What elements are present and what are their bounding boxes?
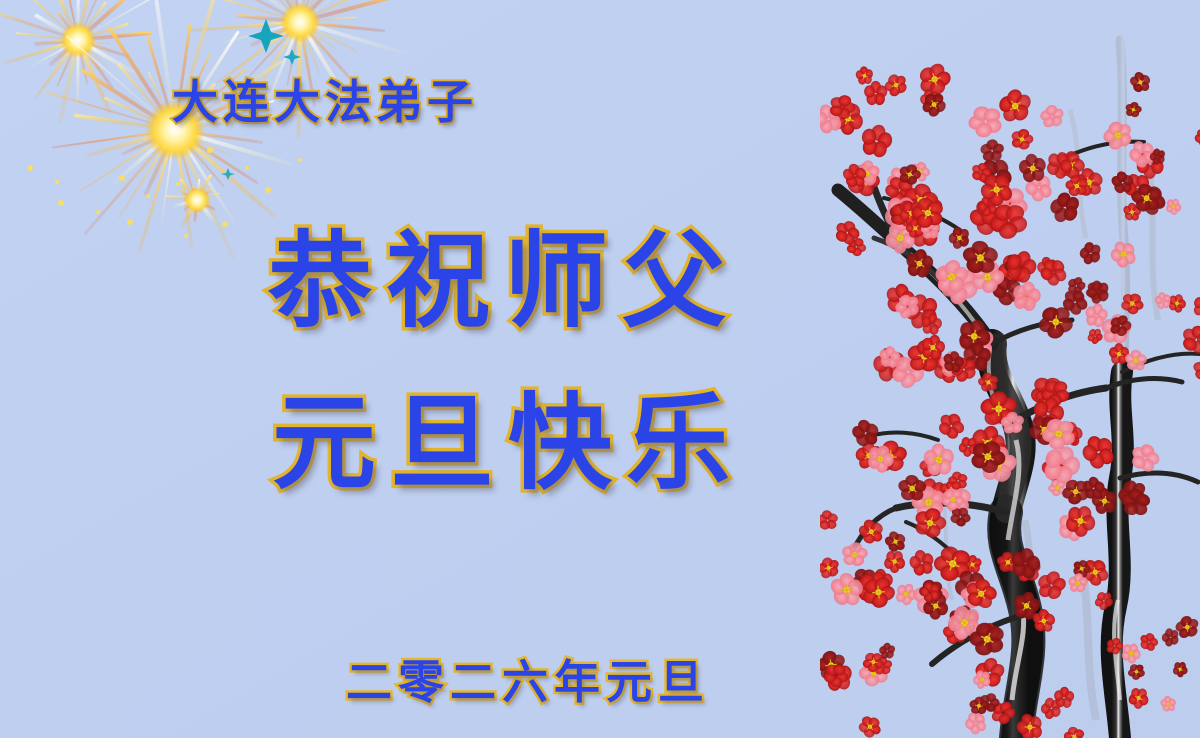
sender-line: 大连大法弟子 bbox=[172, 66, 478, 132]
greeting-line-1: 恭祝师父 bbox=[268, 196, 740, 347]
greeting-card: 大连大法弟子 恭祝师父 元旦快乐 二零二六年元旦 bbox=[0, 0, 1200, 738]
date-line: 二零二六年元旦 bbox=[346, 646, 710, 712]
greeting-line-2: 元旦快乐 bbox=[272, 358, 744, 509]
